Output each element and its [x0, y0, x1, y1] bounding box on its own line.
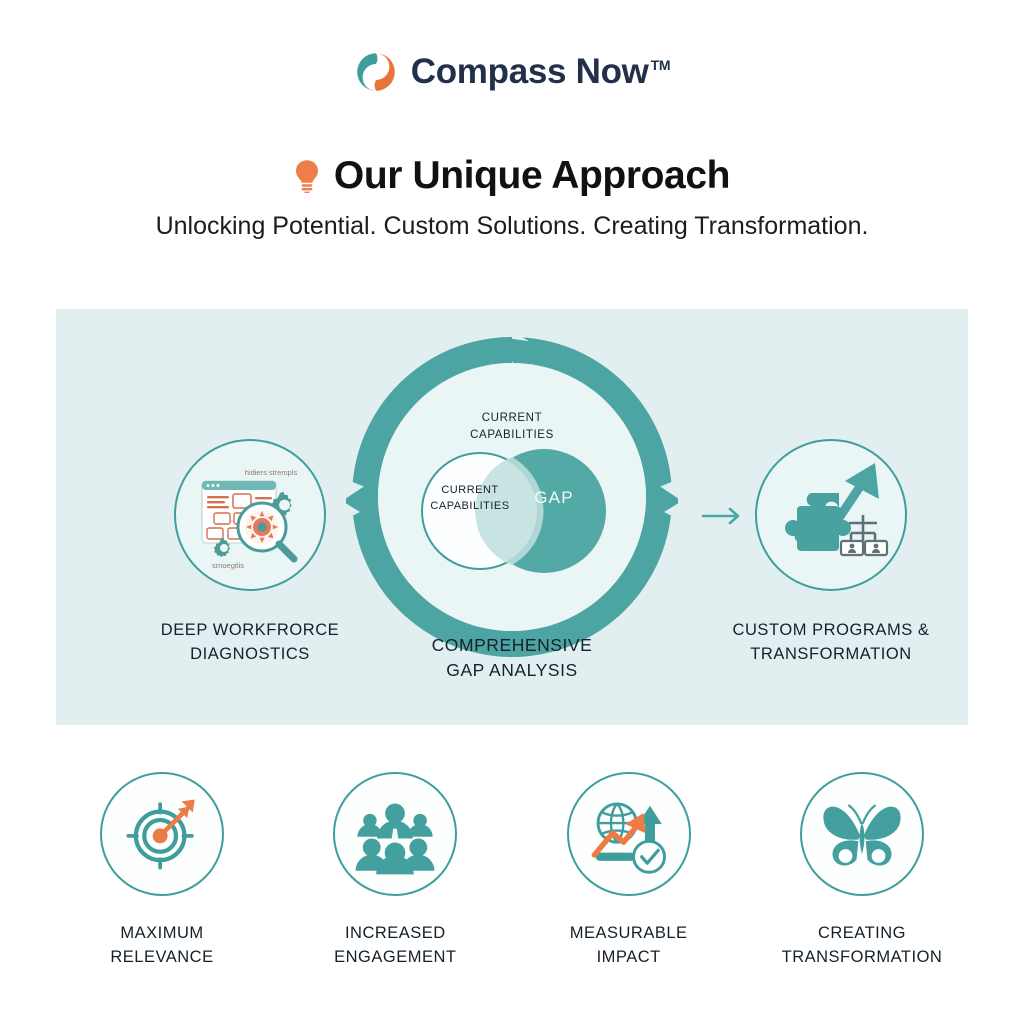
outcome-icon-circle: [333, 772, 457, 896]
brand-name-text: Compass Now: [411, 52, 649, 91]
target-arrow-icon: [120, 792, 204, 876]
outcome-increased-engagement: INCREASED ENGAGEMENT: [289, 772, 501, 970]
trademark-symbol: TM: [651, 57, 671, 73]
outcomes-row: MAXIMUM RELEVANCE: [56, 772, 968, 970]
outcome-measurable-impact: MEASURABLE IMPACT: [523, 772, 735, 970]
outcome-icon-circle: [800, 772, 924, 896]
outcome-maximum-relevance: MAXIMUM RELEVANCE: [56, 772, 268, 970]
outcome-label: MAXIMUM RELEVANCE: [56, 922, 268, 970]
gap-analysis-ring: CURRENT CAPABILITIES CURRENT CAPABILITIE…: [346, 331, 678, 663]
outcome-label: MEASURABLE IMPACT: [523, 922, 735, 970]
outcome-label: INCREASED ENGAGEMENT: [289, 922, 501, 970]
stage-label-gap-analysis: COMPREHENSIVE GAP ANALYSIS: [346, 633, 678, 684]
title-block: Our Unique Approach Unlocking Potential.…: [0, 154, 1024, 241]
globe-growth-check-icon: [587, 793, 671, 875]
puzzle-growth-chart-icon: [757, 441, 909, 593]
title-row: Our Unique Approach: [0, 154, 1024, 198]
people-group-icon: [352, 793, 438, 875]
compass-ring-logo-icon: [354, 50, 398, 94]
lightbulb-icon: [294, 159, 320, 193]
brand-header: Compass NowTM: [0, 0, 1024, 98]
butterfly-icon: [818, 795, 906, 873]
process-stage-gap-analysis: CURRENT CAPABILITIES CURRENT CAPABILITIE…: [346, 331, 678, 663]
stage-label-custom-programs: CUSTOM PROGRAMS & TRANSFORMATION: [686, 619, 976, 667]
process-panel: hidiers strempls srnoegtlis DEEP WORKFRO…: [56, 309, 968, 725]
diagnostics-icon-top-text: hidiers strempls: [245, 468, 298, 477]
diagnostics-icon-bottom-text: srnoegtlis: [212, 561, 244, 570]
venn-diagram: [346, 331, 678, 663]
outcome-label: CREATING TRANSFORMATION: [756, 922, 968, 970]
outcome-icon-circle: [567, 772, 691, 896]
process-stage-custom-programs: CUSTOM PROGRAMS & TRANSFORMATION: [686, 439, 976, 667]
page-title: Our Unique Approach: [334, 154, 730, 198]
outcome-creating-transformation: CREATING TRANSFORMATION: [756, 772, 968, 970]
diagnostics-icon-circle: hidiers strempls srnoegtlis: [174, 439, 326, 591]
dashboard-magnifier-gears-icon: hidiers strempls srnoegtlis: [176, 441, 328, 593]
custom-programs-icon-circle: [755, 439, 907, 591]
brand-name: Compass NowTM: [411, 52, 670, 92]
outcome-icon-circle: [100, 772, 224, 896]
page-subtitle: Unlocking Potential. Custom Solutions. C…: [0, 212, 1024, 241]
